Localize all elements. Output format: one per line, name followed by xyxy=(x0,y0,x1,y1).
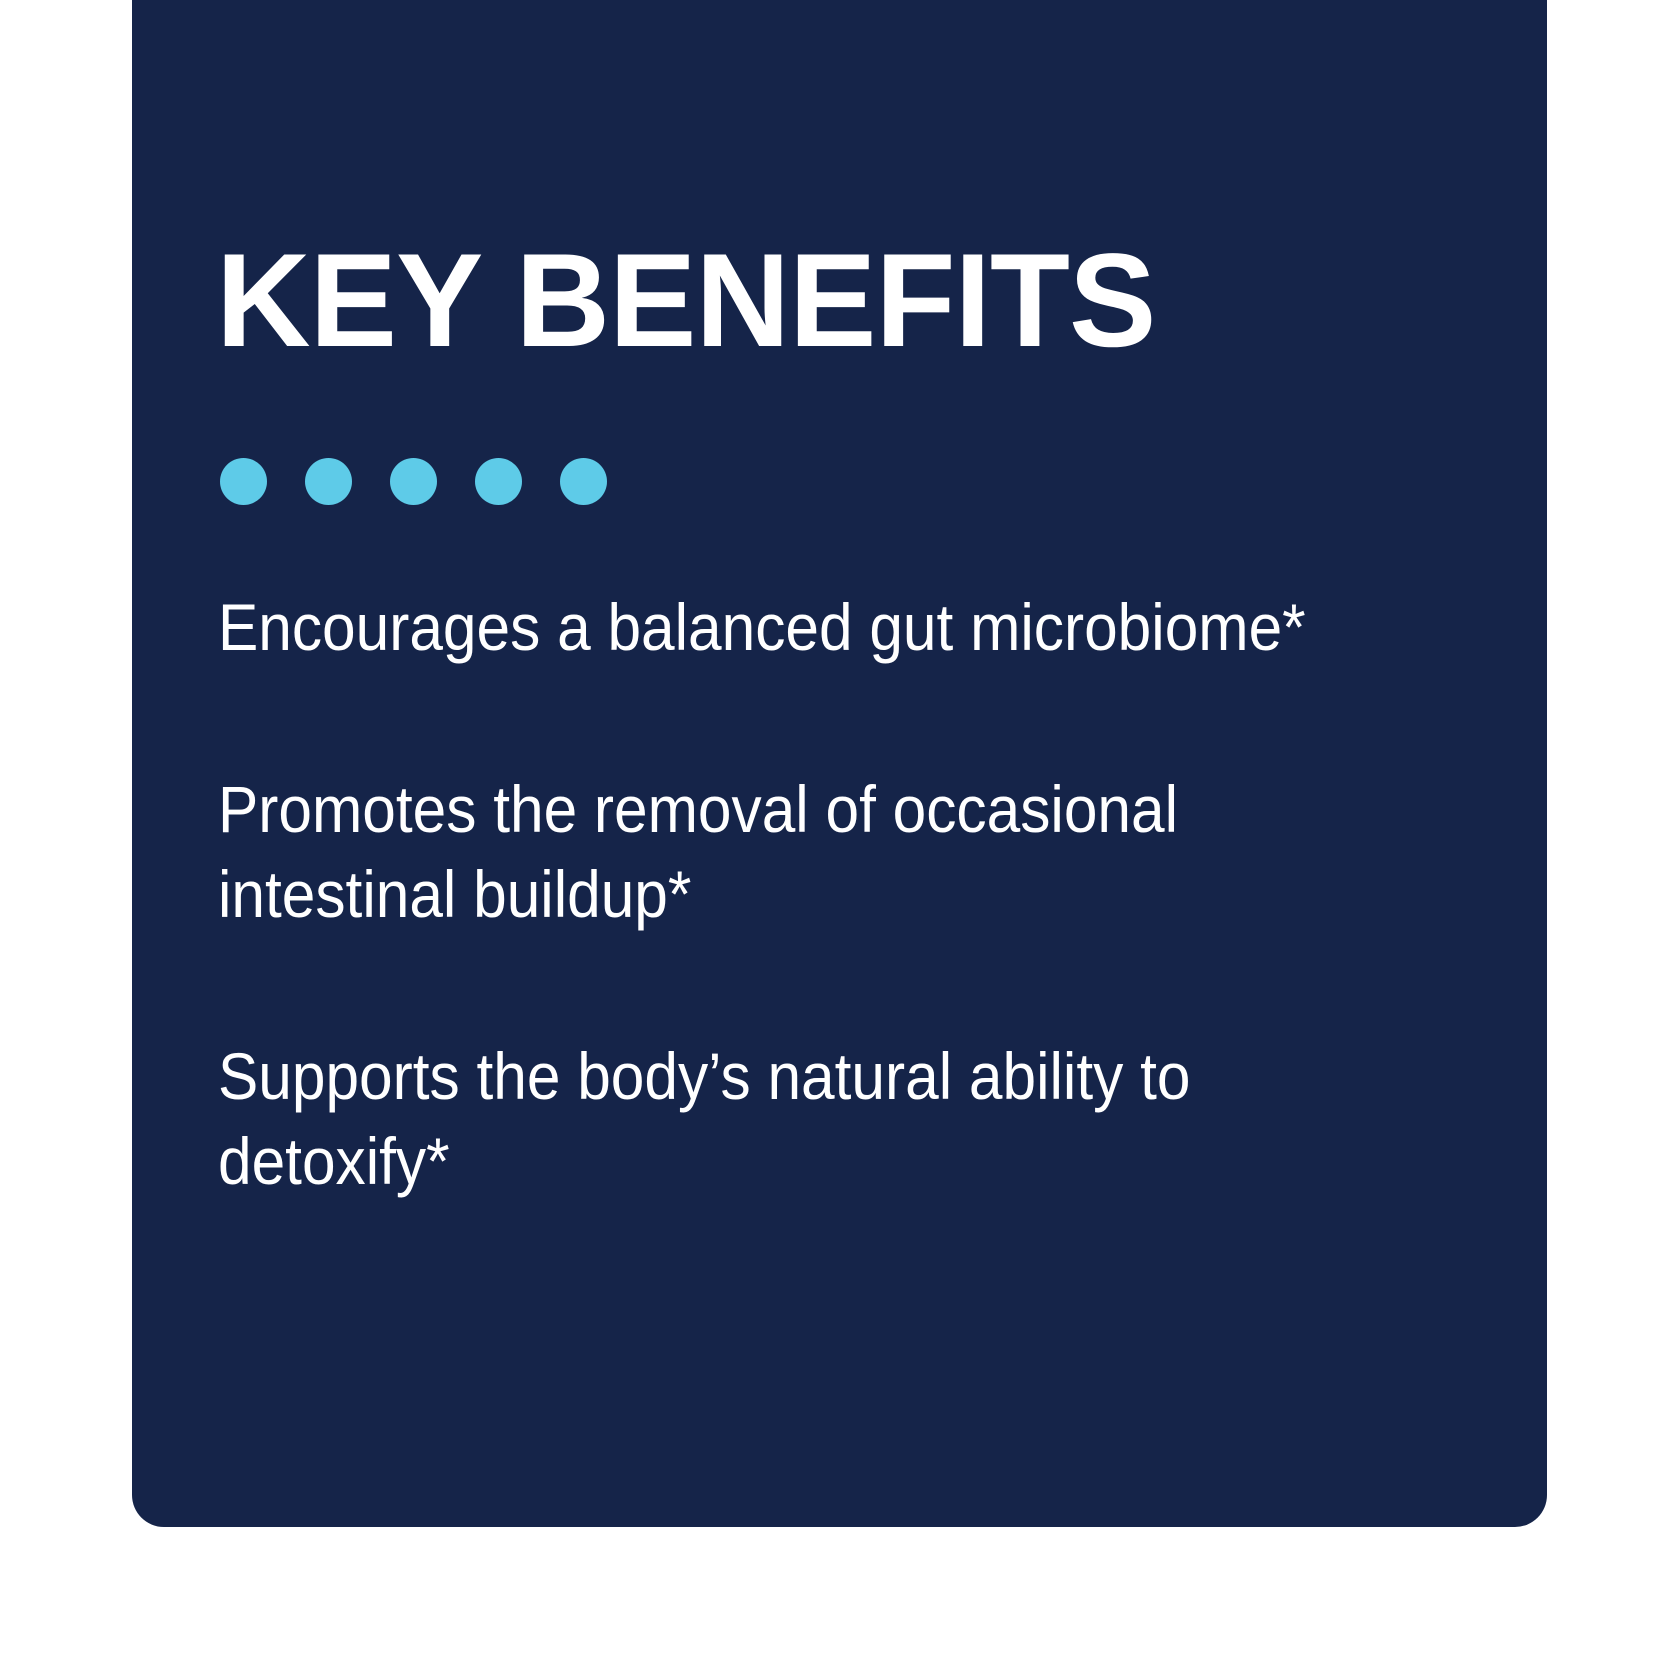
key-benefits-card: KEY BENEFITS Encourages a balanced gut m… xyxy=(132,0,1547,1527)
page-canvas: KEY BENEFITS Encourages a balanced gut m… xyxy=(0,0,1680,1680)
page-title: KEY BENEFITS xyxy=(216,235,1155,368)
benefit-list: Encourages a balanced gut microbiome* Pr… xyxy=(218,585,1378,1203)
accent-dot-icon xyxy=(305,458,352,505)
accent-dot-icon xyxy=(220,458,267,505)
benefit-item: Supports the body’s natural ability to d… xyxy=(218,1034,1380,1203)
accent-dot-icon xyxy=(560,458,607,505)
dot-separator xyxy=(220,458,607,505)
accent-dot-icon xyxy=(475,458,522,505)
benefit-item: Promotes the removal of occasional intes… xyxy=(218,767,1380,936)
benefit-item: Encourages a balanced gut microbiome* xyxy=(218,585,1380,669)
accent-dot-icon xyxy=(390,458,437,505)
